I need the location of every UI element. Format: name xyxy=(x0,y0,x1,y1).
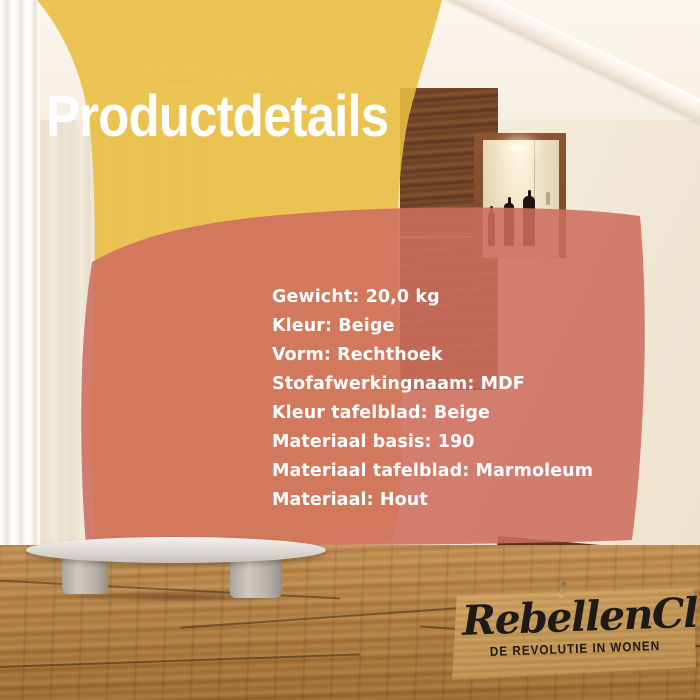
detail-item-material: Materiaal: Hout xyxy=(272,486,593,515)
logo-brand-name: RebellenClub xyxy=(461,590,688,644)
table-leg-right xyxy=(230,556,282,598)
detail-item-color: Kleur: Beige xyxy=(272,312,593,341)
detail-item-tabletop-material: Materiaal tafelblad: Marmoleum xyxy=(272,457,593,486)
brand-logo: RebellenClub DE REVOLUTIE IN WONEN xyxy=(452,588,696,680)
detail-item-shape: Vorm: Rechthoek xyxy=(272,341,593,370)
detail-item-fabric-finish: Stofafwerkingnaam: MDF xyxy=(272,370,593,399)
product-details-list: Gewicht: 20,0 kg Kleur: Beige Vorm: Rech… xyxy=(272,283,593,515)
detail-item-base-material: Materiaal basis: 190 xyxy=(272,428,593,457)
coffee-table-top xyxy=(26,537,326,563)
detail-item-weight: Gewicht: 20,0 kg xyxy=(272,283,593,312)
detail-item-tabletop-color: Kleur tafelblad: Beige xyxy=(272,399,593,428)
table-leg-left xyxy=(62,556,108,594)
product-details-graphic: Productdetails Gewicht: 20,0 kg Kleur: B… xyxy=(0,0,700,700)
page-title: Productdetails xyxy=(46,88,388,146)
